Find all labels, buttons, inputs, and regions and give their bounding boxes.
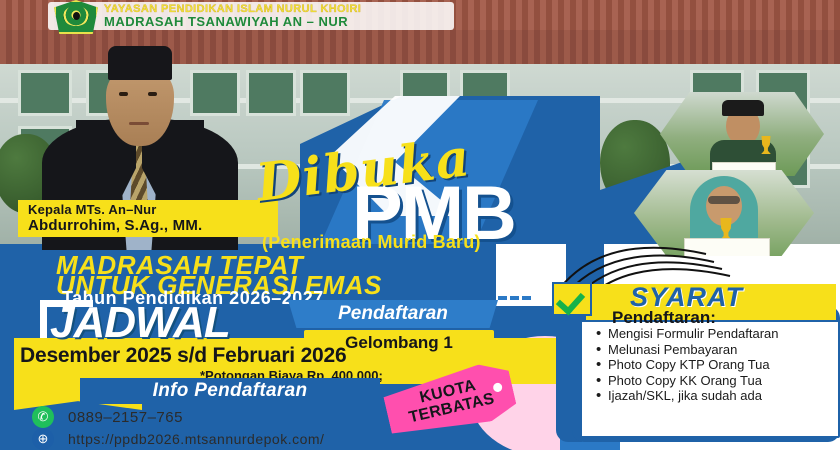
jadwal-heading: JADWAL [50, 298, 230, 348]
requirements-list-panel: Mengisi Formulir Pendaftaran Melunasi Pe… [580, 320, 840, 438]
info-title-bar: Info Pendaftaran [80, 378, 380, 404]
dash-decor [498, 296, 531, 300]
contact-phone-row[interactable]: ✆ 0889–2157–765 [32, 406, 183, 428]
school-name: MADRASAH TSANAWIYAH AN – NUR [104, 15, 361, 28]
headmaster-name-tag: Kepala MTs. An–Nur Abdurrohim, S.Ag., MM… [18, 200, 278, 237]
requirements-subtitle: Pendaftaran: [612, 308, 716, 328]
pendaftaran-label: Pendaftaran [288, 300, 498, 328]
list-item: Mengisi Formulir Pendaftaran [608, 327, 832, 342]
organization-header: YAYASAN PENDIDIKAN ISLAM NURUL KHOIRI MA… [48, 2, 454, 30]
list-item: Ijazah/SKL, jika sudah ada [608, 389, 832, 404]
date-range: Desember 2025 s/d Februari 2026 [20, 344, 347, 368]
contact-website-row[interactable]: ⊕ https://ppdb2026.mtsannurdepok.com/ [32, 428, 324, 450]
tag-hole-decor [492, 382, 503, 393]
globe-icon: ⊕ [32, 428, 54, 450]
pmb-poster: YAYASAN PENDIDIKAN ISLAM NURUL KHOIRI MA… [0, 0, 840, 450]
student-photo-male [660, 92, 824, 176]
website-url[interactable]: https://ppdb2026.mtsannurdepok.com/ [68, 431, 324, 447]
headmaster-role: Kepala MTs. An–Nur [28, 202, 272, 217]
list-item: Photo Copy KK Orang Tua [608, 374, 832, 389]
info-title: Info Pendaftaran [80, 378, 380, 404]
phone-number[interactable]: 0889–2157–765 [68, 409, 183, 426]
pendaftaran-banner: Pendaftaran [288, 300, 498, 328]
whatsapp-phone-icon: ✆ [32, 406, 54, 428]
school-emblem-icon [54, 0, 98, 34]
list-item: Photo Copy KTP Orang Tua [608, 358, 832, 373]
checkmark-icon [552, 282, 592, 316]
requirements-list: Mengisi Formulir Pendaftaran Melunasi Pe… [594, 327, 832, 404]
window [300, 70, 350, 116]
list-item: Melunasi Pembayaran [608, 343, 832, 358]
headmaster-name: Abdurrohim, S.Ag., MM. [28, 217, 272, 234]
